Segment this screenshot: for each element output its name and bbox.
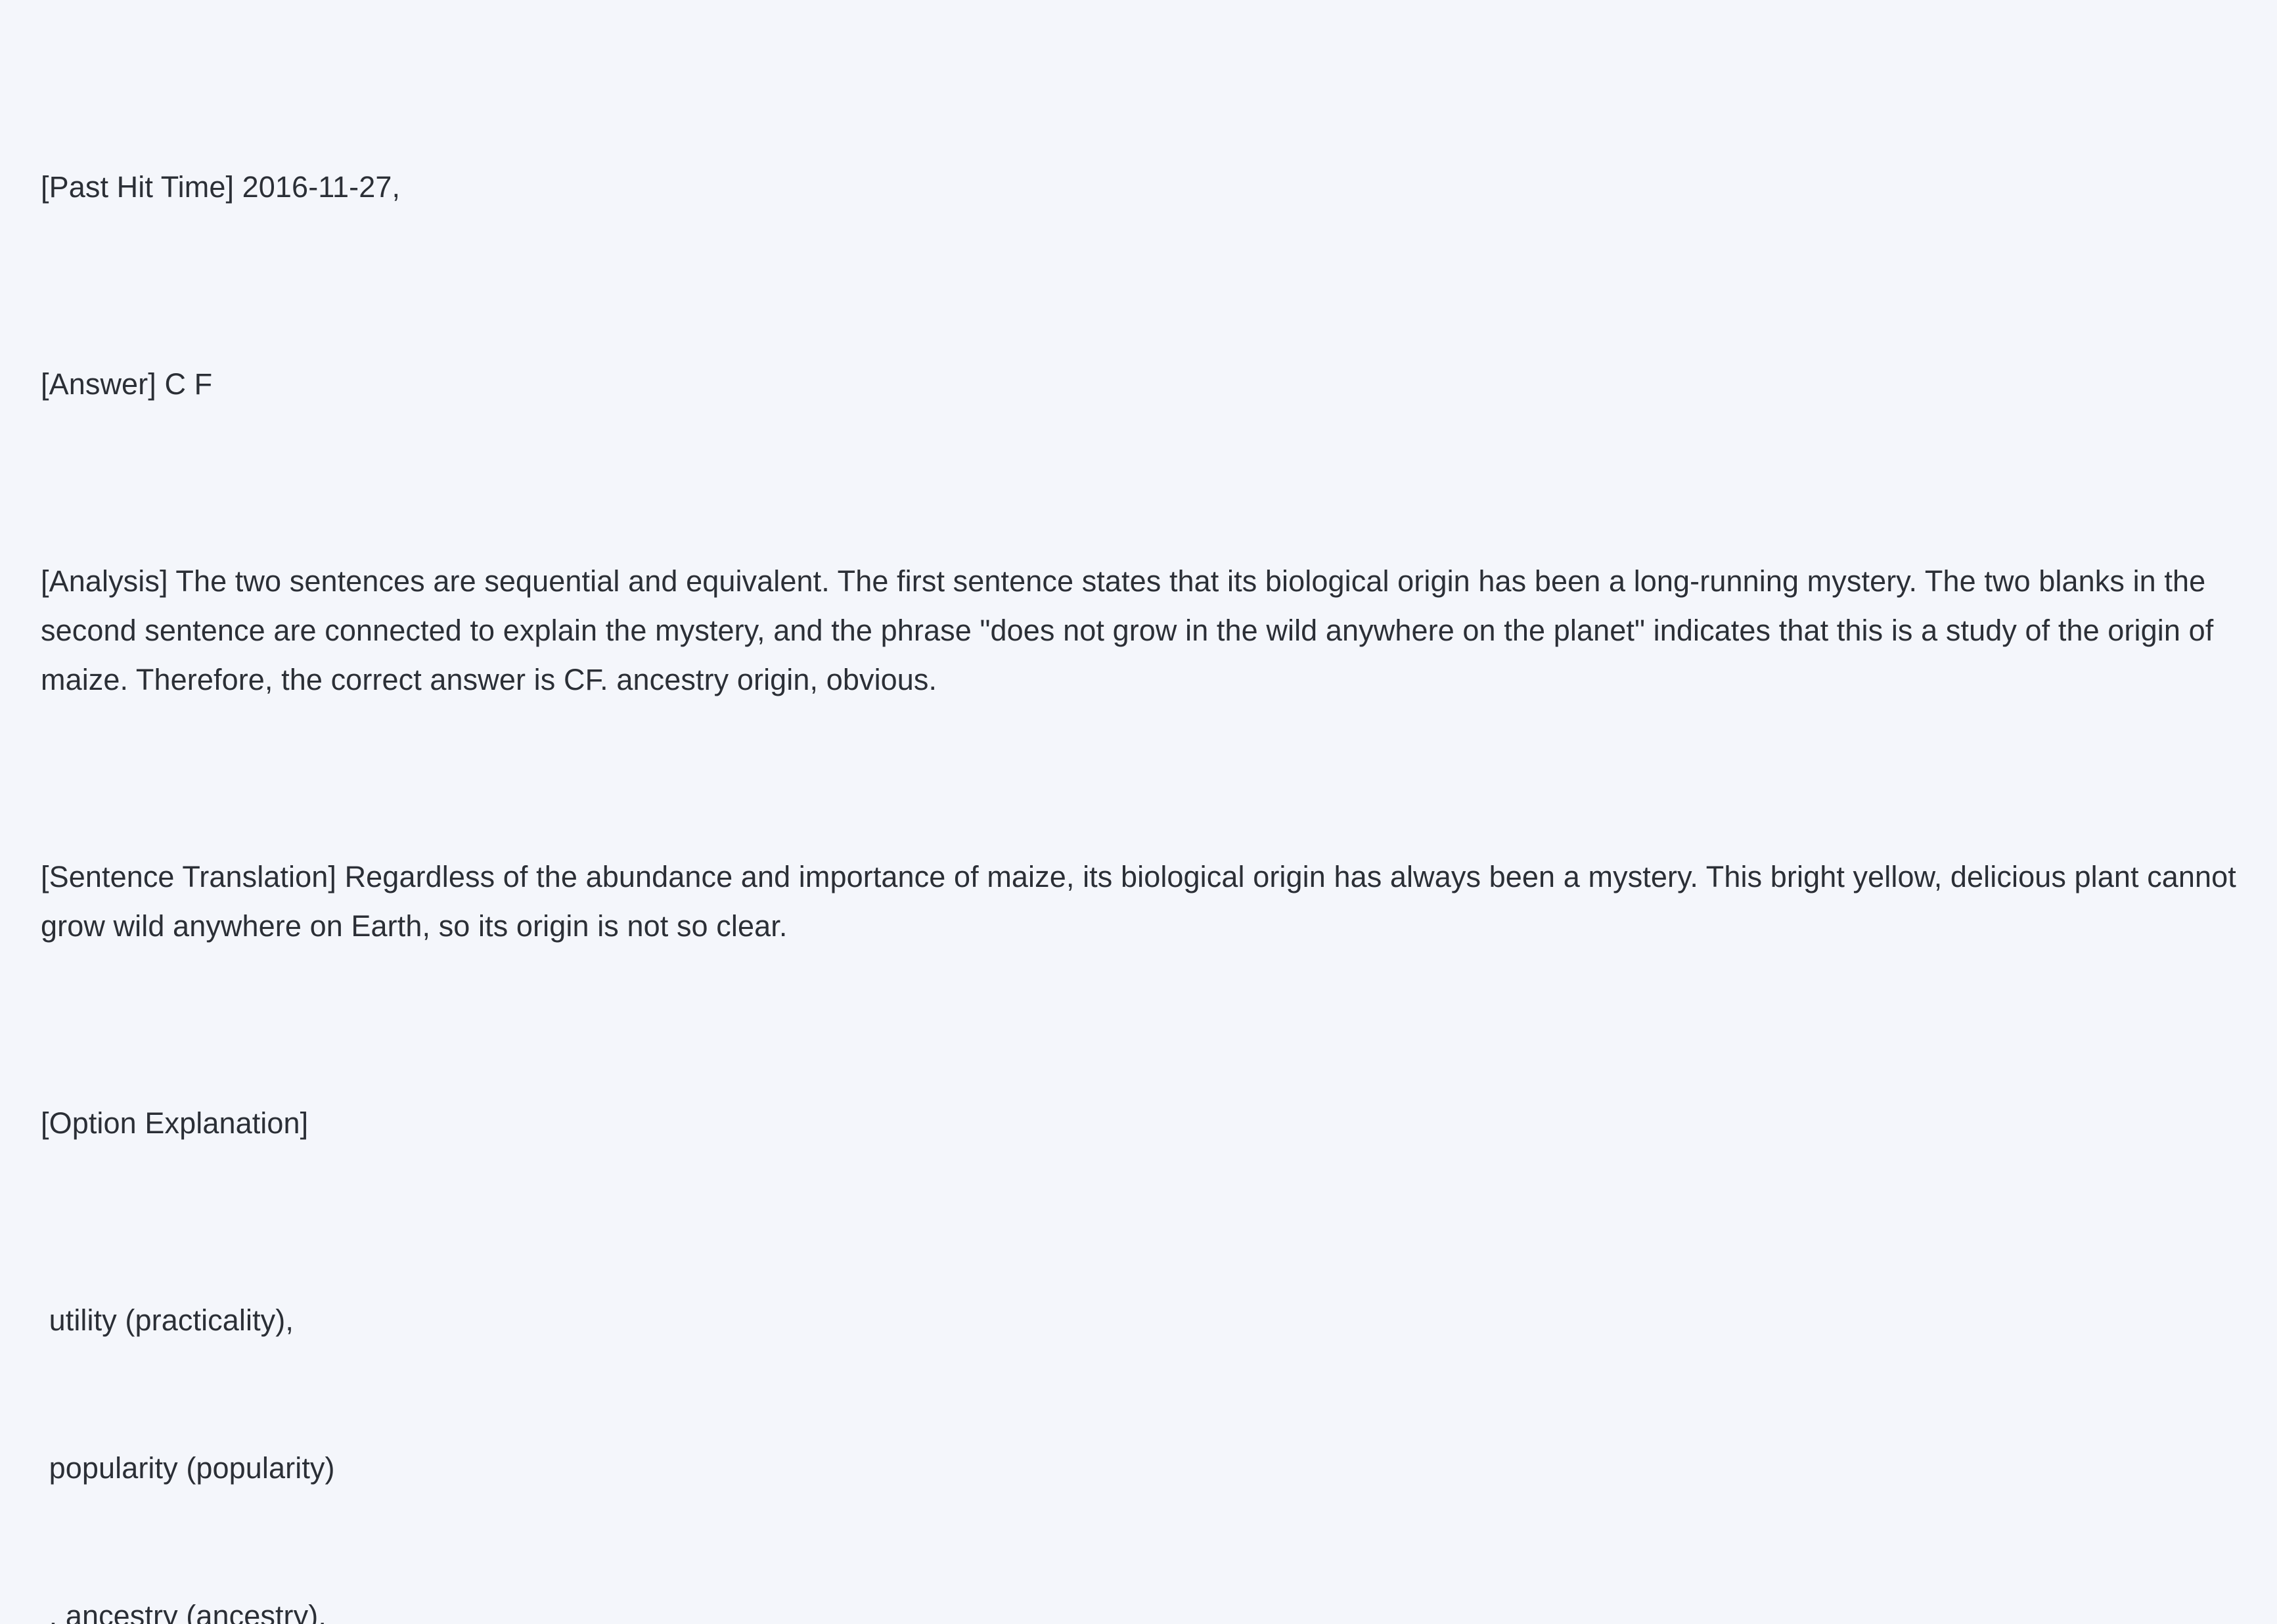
option-explanation-line: popularity (popularity) — [41, 1443, 2238, 1493]
answer-row: [Answer] C F — [41, 359, 2238, 409]
sentence-translation-label: [Sentence Translation] — [41, 860, 336, 893]
option-explanation-label-row: [Option Explanation] — [41, 1098, 2238, 1148]
answer-label: [Answer] — [41, 367, 156, 401]
past-hit-time-label: [Past Hit Time] — [41, 170, 234, 204]
past-hit-time-row: [Past Hit Time] 2016-11-27, — [41, 162, 2238, 212]
analysis-value: The two sentences are sequential and equ… — [41, 564, 2222, 696]
analysis-row: [Analysis] The two sentences are sequent… — [41, 556, 2238, 704]
question-explanation-panel: [Past Hit Time] 2016-11-27, [Answer] C F… — [0, 0, 2277, 812]
option-explanation-label: [Option Explanation] — [41, 1106, 308, 1140]
analysis-label: [Analysis] — [41, 564, 168, 598]
answer-value: C F — [156, 367, 212, 401]
option-explanation-line: , ancestry (ancestry), — [41, 1591, 2238, 1624]
option-explanation-line: utility (practicality), — [41, 1296, 2238, 1345]
past-hit-time-value: 2016-11-27, — [234, 170, 400, 204]
sentence-translation-row: [Sentence Translation] Regardless of the… — [41, 852, 2238, 951]
sentence-translation-value: Regardless of the abundance and importan… — [41, 860, 2245, 943]
explanation-text-block: [Past Hit Time] 2016-11-27, [Answer] C F… — [41, 14, 2238, 1624]
